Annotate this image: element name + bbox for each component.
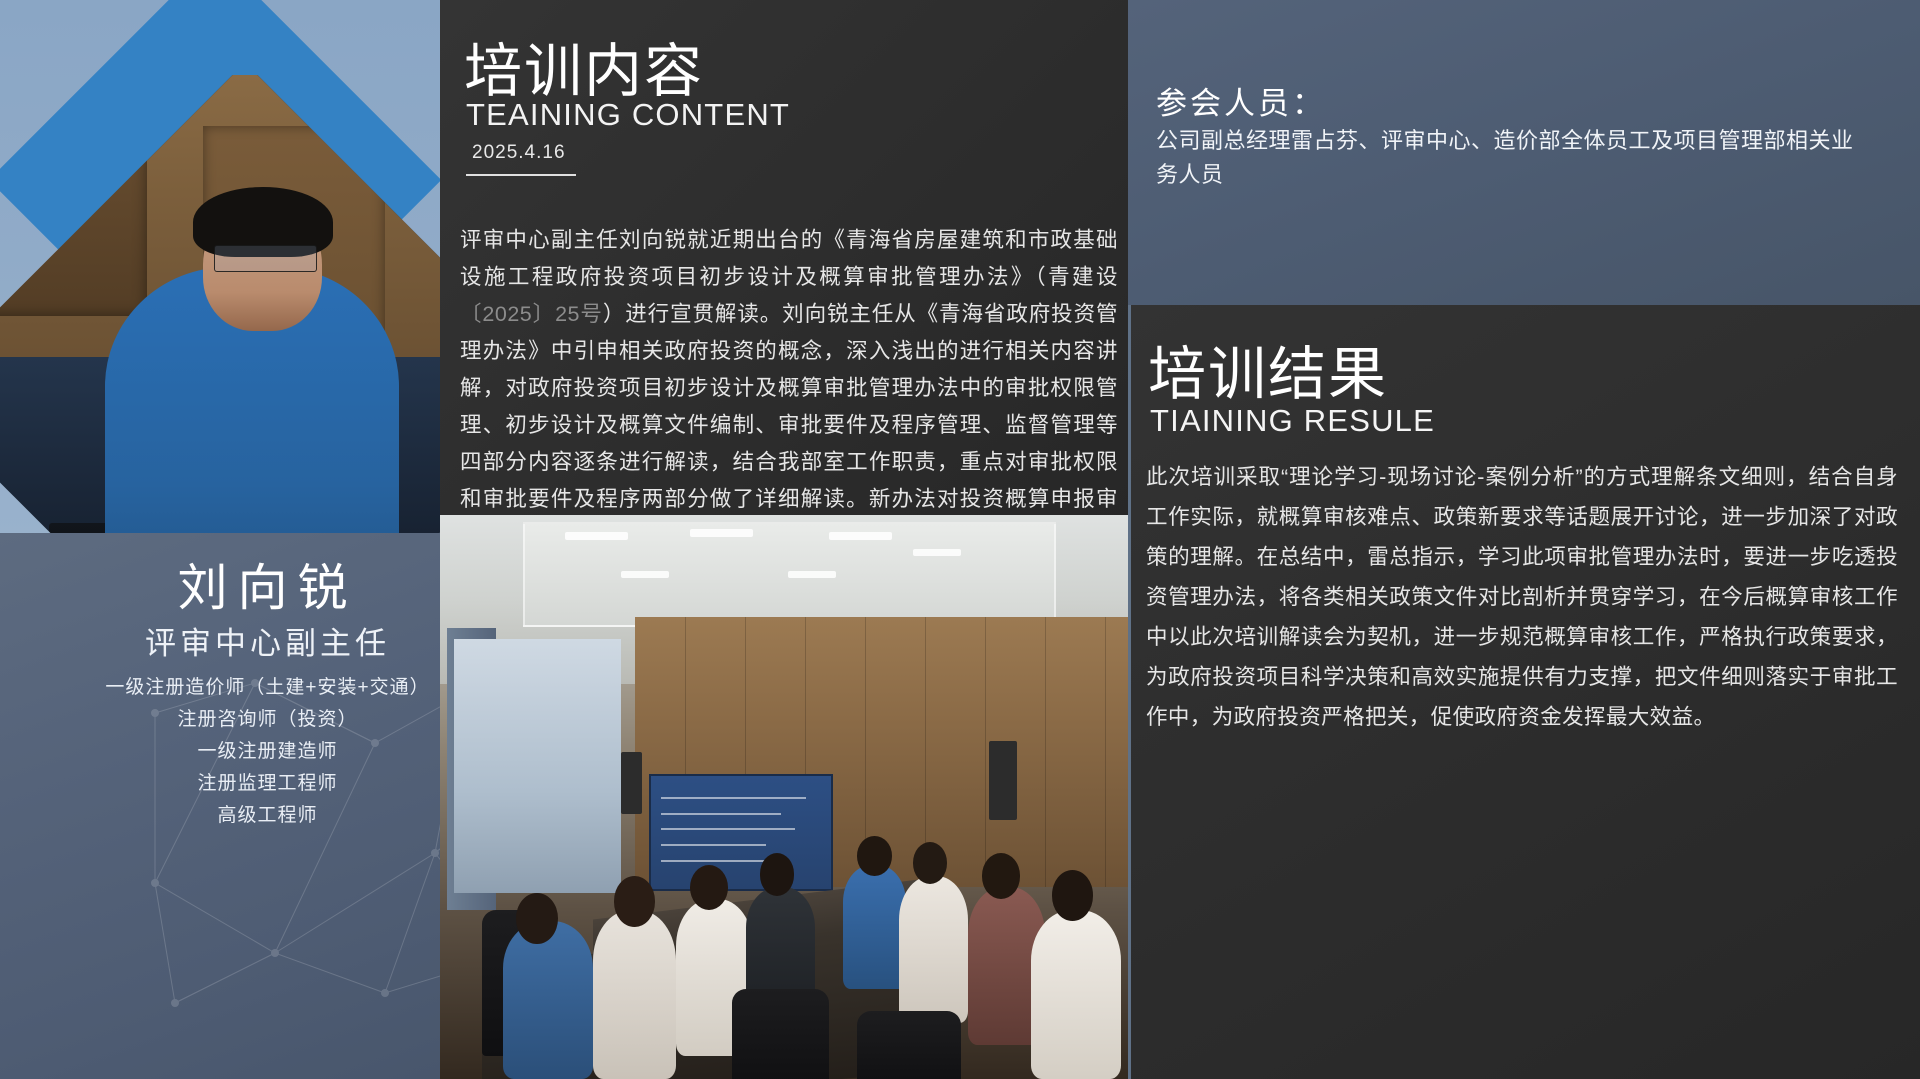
right-panel: 参会人员： 公司副总经理雷占芬、评审中心、造价部全体员工及项目管理部相关业务人员… [1128, 0, 1920, 1079]
training-result-title-en: TIAINING RESULE [1150, 403, 1435, 439]
body-text-part2: ）进行宣贯解读。刘向锐主任从《青海省政府投资管理办法》中引申相关政府投资的概念，… [460, 302, 1118, 548]
training-result-body: 此次培训采取“理论学习-现场讨论-案例分析”的方式理解条文细则，结合自身工作实际… [1146, 457, 1898, 737]
attendees-section: 参会人员： 公司副总经理雷占芬、评审中心、造价部全体员工及项目管理部相关业务人员 [1128, 0, 1920, 305]
training-content-title-cn: 培训内容 [464, 24, 704, 108]
training-content-body: 评审中心副主任刘向锐就近期出台的《青海省房屋建筑和市政基础设施工程政府投资项目初… [460, 222, 1118, 555]
vertical-divider [1128, 305, 1131, 1079]
training-result-section: 培训结果 TIAINING RESULE 此次培训采取“理论学习-现场讨论-案例… [1128, 305, 1920, 1079]
meeting-room-photo [440, 515, 1135, 1079]
body-text-part1: 评审中心副主任刘向锐就近期出台的《青海省房屋建筑和市政基础设施工程政府投资项目初… [460, 228, 1118, 289]
date-underline-rule [466, 174, 576, 176]
training-bulletin-poster: 刘向锐 评审中心副主任 一级注册造价师（土建+安装+交通） 注册咨询师（投资） … [0, 0, 1920, 1079]
training-date: 2025.4.16 [472, 142, 566, 170]
center-panel: 培训内容 TEAINING CONTENT 2025.4.16 评审中心副主任刘… [440, 0, 1135, 1079]
attendees-title: 参会人员： [1156, 78, 1326, 123]
document-number: 〔2025〕25号 [460, 302, 603, 326]
attendees-body: 公司副总经理雷占芬、评审中心、造价部全体员工及项目管理部相关业务人员 [1156, 124, 1856, 192]
training-content-title-en: TEAINING CONTENT [466, 97, 790, 133]
training-result-title-cn: 培训结果 [1148, 327, 1388, 411]
training-content-section: 培训内容 TEAINING CONTENT 2025.4.16 评审中心副主任刘… [440, 0, 1135, 520]
